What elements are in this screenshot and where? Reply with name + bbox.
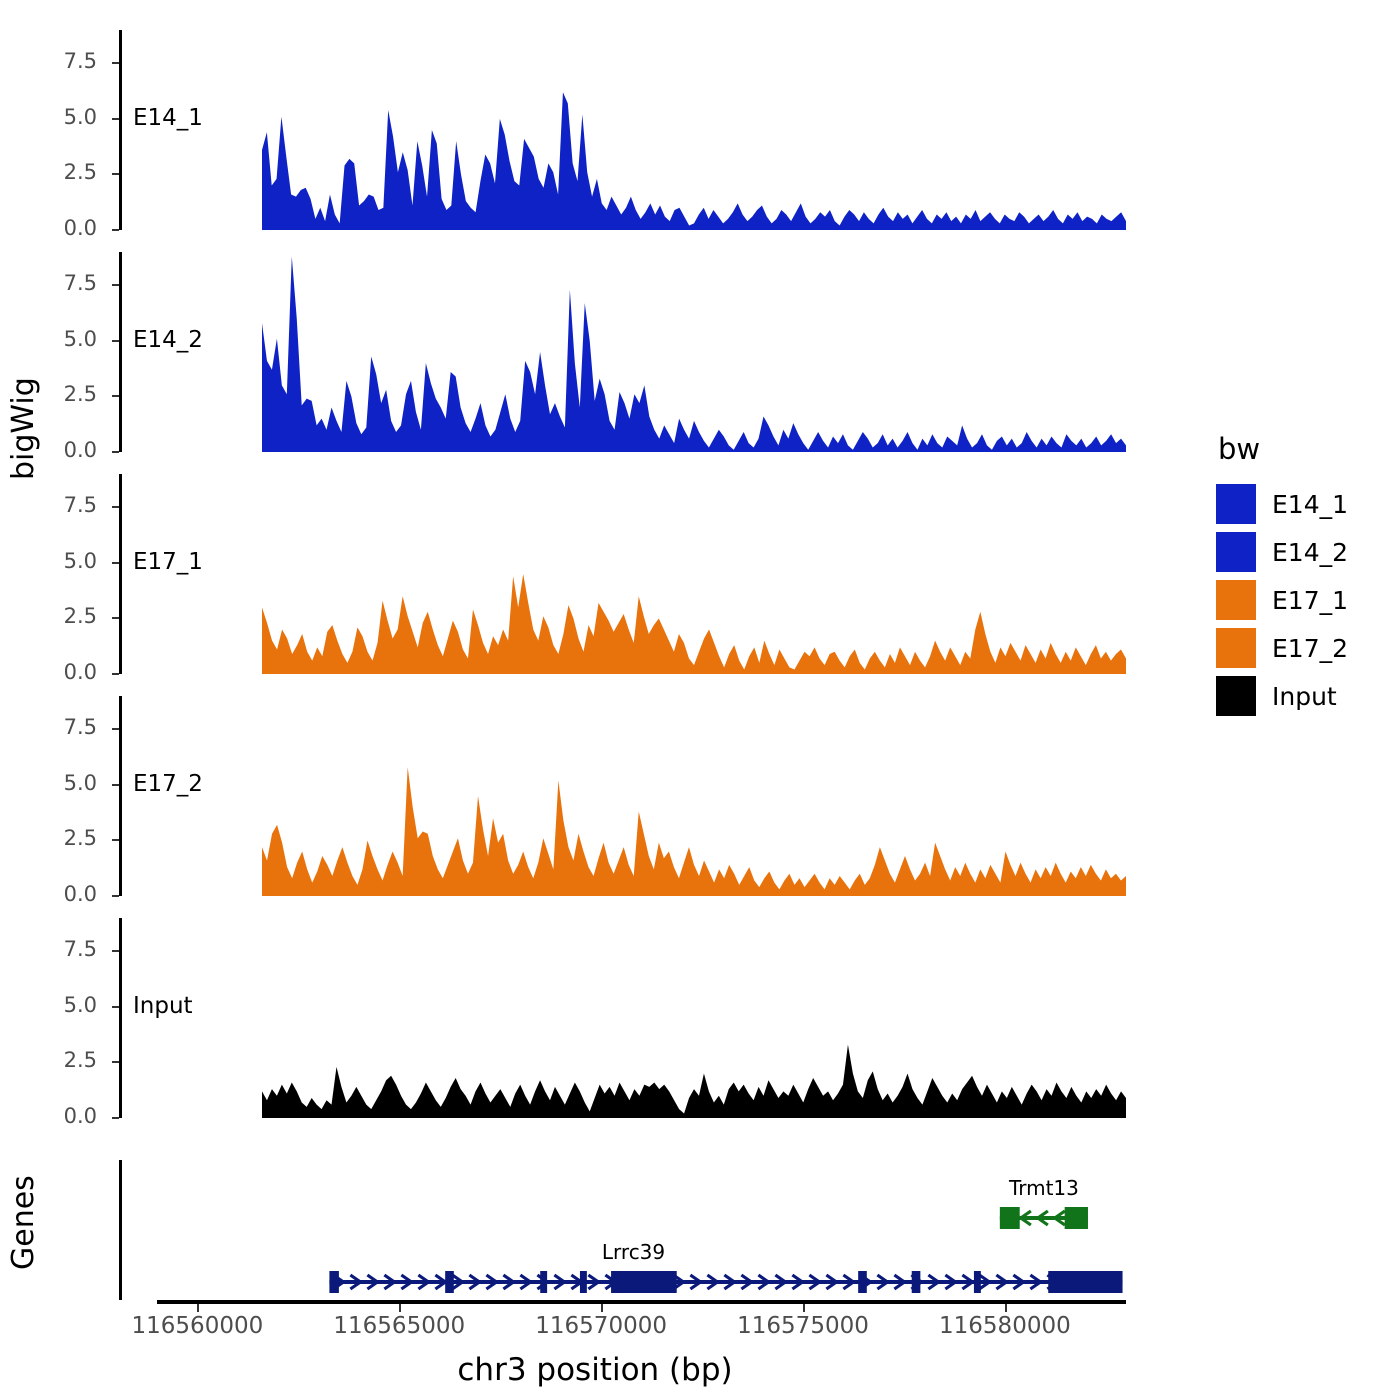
signal-track-E14_1	[262, 30, 1126, 230]
y-axis-line-E14_2	[119, 252, 122, 452]
y-tick-mark	[112, 895, 119, 897]
y-tick-mark	[112, 284, 119, 286]
x-tick-mark	[197, 1304, 199, 1312]
y-tick-mark	[112, 173, 119, 175]
legend-swatch-E17_1	[1216, 580, 1256, 620]
y-axis-line-E17_2	[119, 696, 122, 896]
y-tick-label: 2.5	[0, 382, 105, 406]
track-label-E17_2: E17_2	[133, 771, 203, 797]
legend-items: E14_1E14_2E17_1E17_2Input	[1216, 480, 1348, 720]
legend-label-E17_2: E17_2	[1272, 634, 1348, 663]
x-tick-label: 116560000	[132, 1313, 264, 1339]
y-tick-mark	[112, 1117, 119, 1119]
y-axis-line-E14_1	[119, 30, 122, 230]
y-tick-mark	[112, 118, 119, 120]
legend-item-E14_2[interactable]: E14_2	[1216, 528, 1348, 576]
y-tick-label: 7.5	[0, 49, 105, 73]
legend: bw E14_1E14_2E17_1E17_2Input	[1216, 432, 1348, 720]
signal-track-E17_1	[262, 474, 1126, 674]
y-tick-mark	[112, 1061, 119, 1063]
legend-swatch-E14_1	[1216, 484, 1256, 524]
y-tick-mark	[112, 784, 119, 786]
x-axis-title: chr3 position (bp)	[0, 1352, 1190, 1388]
y-axis-line-E17_1	[119, 474, 122, 674]
figure-canvas: bigWig Genes 0.02.55.07.5E14_10.02.55.07…	[0, 0, 1400, 1400]
x-tick-label: 116565000	[333, 1313, 465, 1339]
genes-axis-title: Genes	[6, 1175, 41, 1270]
legend-item-E14_1[interactable]: E14_1	[1216, 480, 1348, 528]
y-tick-mark	[112, 506, 119, 508]
y-tick-label: 5.0	[0, 549, 105, 573]
legend-swatch-E14_2	[1216, 532, 1256, 572]
y-tick-label: 0.0	[0, 438, 105, 462]
y-tick-mark	[112, 1006, 119, 1008]
y-tick-label: 5.0	[0, 105, 105, 129]
y-tick-mark	[112, 562, 119, 564]
genes-panel-axis	[119, 1160, 122, 1300]
y-tick-mark	[112, 451, 119, 453]
x-tick-mark	[399, 1304, 401, 1312]
signal-track-E17_2	[262, 696, 1126, 896]
y-tick-label: 0.0	[0, 216, 105, 240]
y-tick-label: 5.0	[0, 327, 105, 351]
y-tick-label: 0.0	[0, 660, 105, 684]
y-tick-label: 7.5	[0, 493, 105, 517]
y-tick-label: 7.5	[0, 271, 105, 295]
legend-swatch-E17_2	[1216, 628, 1256, 668]
legend-label-E14_2: E14_2	[1272, 538, 1348, 567]
legend-title: bw	[1218, 432, 1348, 466]
y-tick-mark	[112, 728, 119, 730]
y-tick-mark	[112, 950, 119, 952]
track-label-E17_1: E17_1	[133, 549, 203, 575]
track-label-Input: Input	[133, 993, 193, 1019]
x-axis-line	[157, 1300, 1126, 1304]
legend-swatch-Input	[1216, 676, 1256, 716]
legend-label-E17_1: E17_1	[1272, 586, 1348, 615]
x-tick-label: 116575000	[737, 1313, 869, 1339]
x-tick-label: 116570000	[535, 1313, 667, 1339]
y-tick-mark	[112, 62, 119, 64]
legend-label-E14_1: E14_1	[1272, 490, 1348, 519]
y-tick-mark	[112, 673, 119, 675]
y-tick-mark	[112, 229, 119, 231]
x-tick-label: 116580000	[939, 1313, 1071, 1339]
y-tick-label: 5.0	[0, 993, 105, 1017]
x-tick-mark	[803, 1304, 805, 1312]
legend-item-E17_2[interactable]: E17_2	[1216, 624, 1348, 672]
y-tick-label: 7.5	[0, 715, 105, 739]
track-label-E14_2: E14_2	[133, 327, 203, 353]
legend-item-Input[interactable]: Input	[1216, 672, 1348, 720]
legend-item-E17_1[interactable]: E17_1	[1216, 576, 1348, 624]
y-tick-mark	[112, 340, 119, 342]
y-tick-mark	[112, 617, 119, 619]
x-tick-mark	[1005, 1304, 1007, 1312]
track-label-E14_1: E14_1	[133, 105, 203, 131]
y-tick-label: 7.5	[0, 937, 105, 961]
y-tick-label: 0.0	[0, 882, 105, 906]
signal-track-E14_2	[262, 252, 1126, 452]
y-tick-mark	[112, 395, 119, 397]
y-tick-label: 2.5	[0, 160, 105, 184]
y-tick-mark	[112, 839, 119, 841]
y-tick-label: 5.0	[0, 771, 105, 795]
y-tick-label: 0.0	[0, 1104, 105, 1128]
y-tick-label: 2.5	[0, 604, 105, 628]
y-axis-line-Input	[119, 918, 122, 1118]
y-tick-label: 2.5	[0, 1048, 105, 1072]
legend-label-Input: Input	[1272, 682, 1337, 711]
y-tick-label: 2.5	[0, 826, 105, 850]
x-tick-mark	[601, 1304, 603, 1312]
signal-track-Input	[262, 918, 1126, 1118]
gene-label-Trmt13: Trmt13	[1009, 1176, 1079, 1200]
genes-track: Trmt13Lrrc39	[262, 1160, 1126, 1300]
gene-label-Lrrc39: Lrrc39	[602, 1240, 665, 1264]
